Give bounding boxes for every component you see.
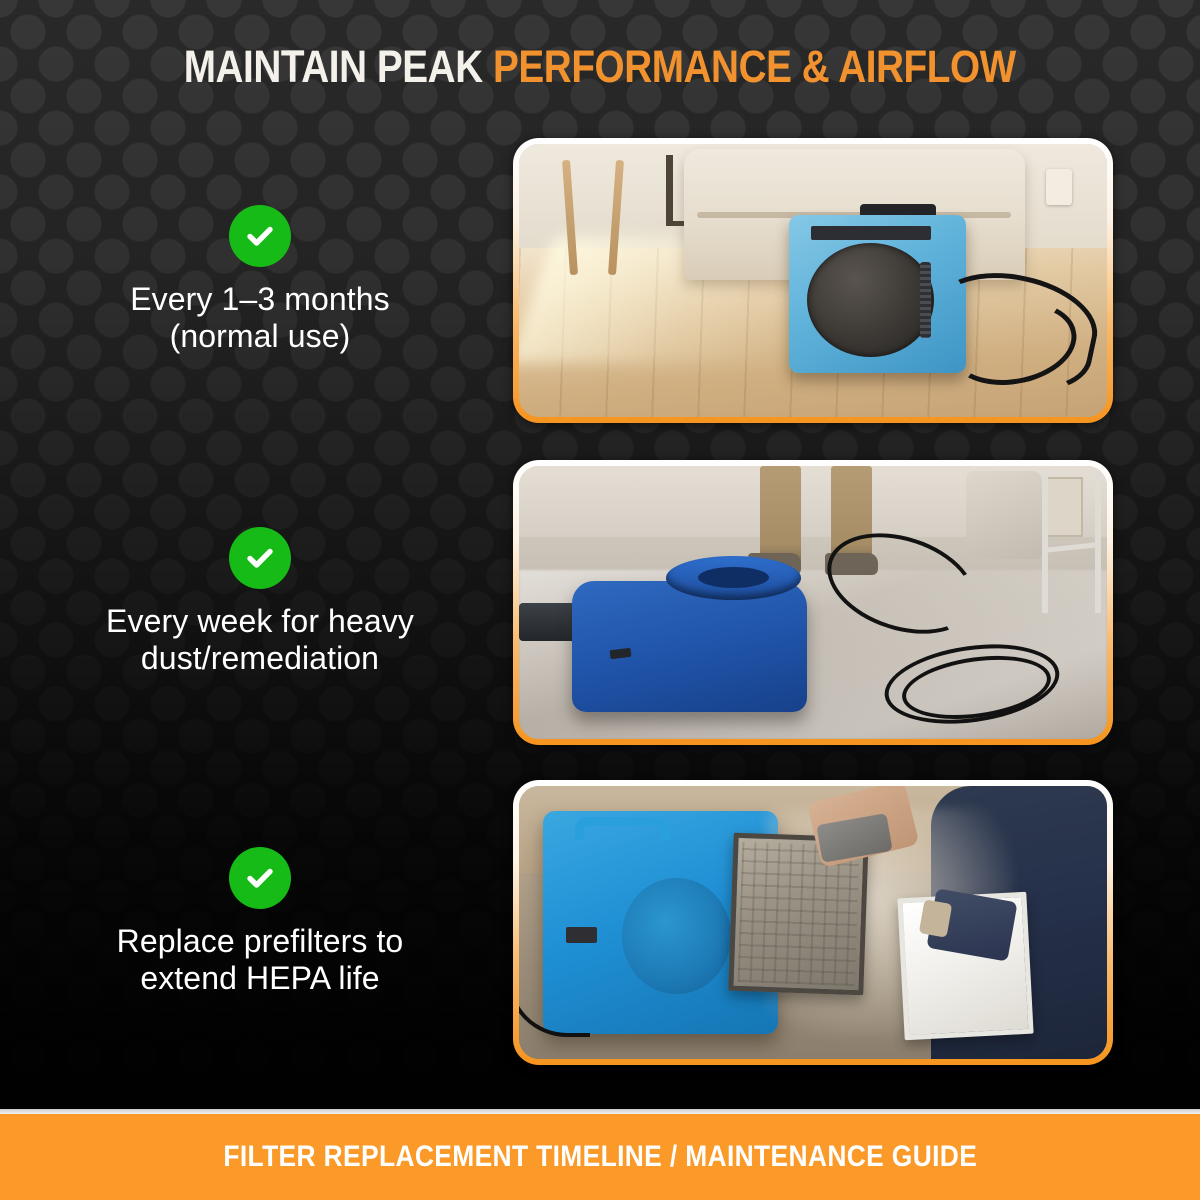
photo-air-mover-jobsite [519, 466, 1107, 739]
photo1-wall-outlet [1046, 169, 1072, 205]
feature-caption: Replace prefilters to extend HEPA life [117, 923, 404, 998]
photo-frame-2 [513, 460, 1113, 745]
photo3-unit-handle [575, 817, 669, 839]
title-segment-orange: PERFORMANCE & AIRFLOW [493, 41, 1016, 92]
feature-caption: Every 1–3 months (normal use) [130, 281, 390, 356]
photo-air-scrubber-living-room [519, 144, 1107, 417]
feature-row-2: Every week for heavy dust/remediation [0, 452, 1200, 752]
title-segment-white: MAINTAIN PEAK [184, 41, 493, 92]
check-circle-icon [229, 527, 291, 589]
photo-frame-3 [513, 780, 1113, 1065]
feature-text-block-1: Every 1–3 months (normal use) [20, 130, 500, 430]
check-circle-icon [229, 847, 291, 909]
feature-row-3: Replace prefilters to extend HEPA life [0, 772, 1200, 1072]
photo2-air-mover-unit [572, 581, 807, 712]
check-circle-icon [229, 205, 291, 267]
photo1-furniture-legs [543, 160, 672, 275]
photo2-debris-bag [966, 471, 1042, 558]
photo2-worker-leg-left [760, 466, 801, 564]
photo-filter-replacement [519, 786, 1107, 1059]
feature-row-1: Every 1–3 months (normal use) [0, 130, 1200, 430]
footer-label: FILTER REPLACEMENT TIMELINE / MAINTENANC… [223, 1140, 977, 1174]
photo2-air-outlet [666, 556, 801, 600]
infographic-canvas: MAINTAIN PEAK PERFORMANCE & AIRFLOW Ever… [0, 0, 1200, 1200]
page-title: MAINTAIN PEAK PERFORMANCE & AIRFLOW [0, 44, 1200, 89]
feature-caption: Every week for heavy dust/remediation [106, 603, 414, 678]
photo3-power-cord [519, 868, 590, 1037]
photo1-unit-vent [920, 262, 931, 338]
photo2-ladder [1042, 471, 1101, 613]
footer-banner: FILTER REPLACEMENT TIMELINE / MAINTENANC… [0, 1114, 1200, 1200]
title-line: MAINTAIN PEAK PERFORMANCE & AIRFLOW [184, 44, 1016, 89]
photo3-unit-intake [622, 878, 730, 994]
feature-text-block-2: Every week for heavy dust/remediation [20, 452, 500, 752]
feature-text-block-3: Replace prefilters to extend HEPA life [20, 772, 500, 1072]
photo2-brand-label [609, 648, 631, 660]
photo-frame-1 [513, 138, 1113, 423]
